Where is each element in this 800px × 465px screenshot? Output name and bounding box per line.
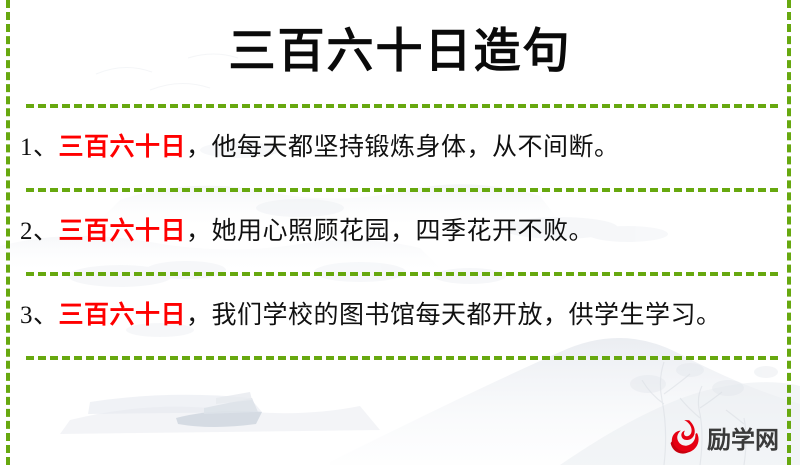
sentence-number: 3、 <box>20 302 59 329</box>
sentence-keyword: 三百六十日 <box>59 218 187 245</box>
sentence-text: ，她用心照顾花园，四季花开不败。 <box>186 218 594 245</box>
sentence-keyword: 三百六十日 <box>59 134 187 161</box>
sentence-text: ，我们学校的图书馆每天都开放，供学生学习。 <box>186 302 722 329</box>
content-column: 三百六十日造句 1、三百六十日，他每天都坚持锻炼身体，从不间断。 2、三百六十日… <box>0 0 800 360</box>
page-title-block: 三百六十日造句 <box>0 0 800 104</box>
divider-bottom <box>26 356 778 360</box>
sentence-item: 2、三百六十日，她用心照顾花园，四季花开不败。 <box>0 192 800 272</box>
sentence-item: 1、三百六十日，他每天都坚持锻炼身体，从不间断。 <box>0 108 800 188</box>
sentence-number: 2、 <box>20 218 59 245</box>
page-title: 三百六十日造句 <box>229 29 572 76</box>
red-swirl-flame-icon <box>664 417 704 457</box>
sentence-item: 3、三百六十日，我们学校的图书馆每天都开放，供学生学习。 <box>0 276 800 356</box>
sentence-text: ，他每天都坚持锻炼身体，从不间断。 <box>186 134 620 161</box>
logo-text: 励学网 <box>707 420 779 455</box>
site-logo[interactable]: 励学网 <box>664 414 786 460</box>
sentence-number: 1、 <box>20 134 59 161</box>
worksheet-page: 三百六十日造句 1、三百六十日，他每天都坚持锻炼身体，从不间断。 2、三百六十日… <box>0 0 800 465</box>
sentence-keyword: 三百六十日 <box>59 302 187 329</box>
